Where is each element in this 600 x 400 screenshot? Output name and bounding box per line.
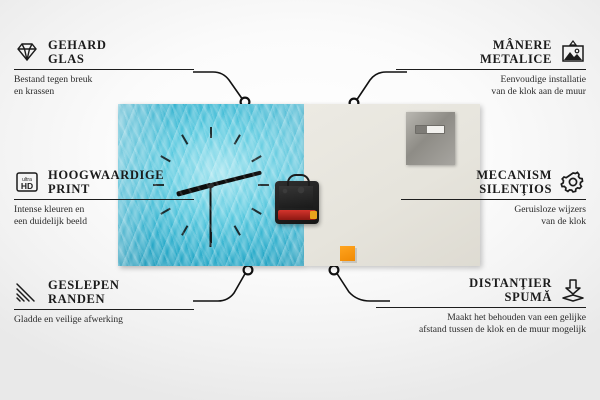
feature-title-line1: GESLEPEN xyxy=(48,278,120,292)
svg-text:HD: HD xyxy=(21,181,33,191)
feature-title-line2: PRINT xyxy=(48,182,164,196)
clock-minute-hand xyxy=(211,170,262,186)
feature-geslepen-randen: GESLEPEN RANDEN Gladde en veilige afwerk… xyxy=(14,278,194,326)
diamond-icon xyxy=(14,40,40,64)
hanger-slot xyxy=(415,125,445,134)
feature-desc-line1: Gladde en veilige afwerking xyxy=(14,314,194,326)
ultra-hd-icon: ultra HD xyxy=(14,170,40,194)
feature-title-line1: DISTANŢIER xyxy=(469,276,552,290)
feature-desc-line1: Eenvoudige installatie xyxy=(396,74,586,86)
feature-desc-line2: een duidelijk beeld xyxy=(14,216,194,228)
feature-title-line1: GEHARD xyxy=(48,38,106,52)
feature-hoogwaardige-print: ultra HD HOOGWAARDIGE PRINT Intense kleu… xyxy=(14,168,194,228)
feature-desc-line1: Intense kleuren en xyxy=(14,204,194,216)
feature-desc-line1: Maakt het behouden van een gelijke xyxy=(376,312,586,324)
feature-distantier-spuma: DISTANŢIER SPUMĂ Maakt het behouden van … xyxy=(376,276,586,336)
divider xyxy=(14,309,194,310)
feature-desc-line1: Bestand tegen breuk xyxy=(14,74,194,86)
feature-title-line1: MECANISM xyxy=(476,168,552,182)
feature-title-line2: SPUMĂ xyxy=(469,290,552,304)
clock-second-hand xyxy=(210,185,212,247)
infographic-stage: GEHARD GLAS Bestand tegen breuk en krass… xyxy=(0,0,600,400)
divider xyxy=(401,199,586,200)
feature-mecanism-silentios: MECANISM SILENŢIOS Geruisloze wijzers va… xyxy=(401,168,586,228)
feature-title-line2: RANDEN xyxy=(48,292,120,306)
feature-desc-line2: afstand tussen de klok en de muur mogeli… xyxy=(376,324,586,336)
spacer-arrow-icon xyxy=(560,278,586,302)
divider xyxy=(14,199,194,200)
feature-desc-line2: van de klok xyxy=(401,216,586,228)
feature-title-line2: GLAS xyxy=(48,52,106,66)
hanger-loop xyxy=(287,174,310,186)
gear-icon xyxy=(560,170,586,194)
metal-hanger-plate xyxy=(406,112,455,165)
divider xyxy=(396,69,586,70)
feature-manere-metalice: MÂNERE METALICE Eenvoudige installatie v… xyxy=(396,38,586,98)
feature-desc-line1: Geruisloze wijzers xyxy=(401,204,586,216)
beveled-edges-icon xyxy=(14,280,40,304)
feature-title-line2: SILENŢIOS xyxy=(476,182,552,196)
divider xyxy=(376,307,586,308)
feature-desc-line2: van de klok aan de muur xyxy=(396,86,586,98)
feature-title-line1: MÂNERE xyxy=(480,38,552,52)
feature-title-line1: HOOGWAARDIGE xyxy=(48,168,164,182)
foam-spacer xyxy=(340,246,355,261)
quartz-movement xyxy=(275,181,319,224)
feature-gehard-glas: GEHARD GLAS Bestand tegen breuk en krass… xyxy=(14,38,194,98)
feature-desc-line2: en krassen xyxy=(14,86,194,98)
clock-center-pin xyxy=(209,183,214,188)
movement-detail xyxy=(279,186,313,208)
feature-title-line2: METALICE xyxy=(480,52,552,66)
picture-frame-icon xyxy=(560,40,586,64)
battery xyxy=(278,210,316,220)
divider xyxy=(14,69,194,70)
